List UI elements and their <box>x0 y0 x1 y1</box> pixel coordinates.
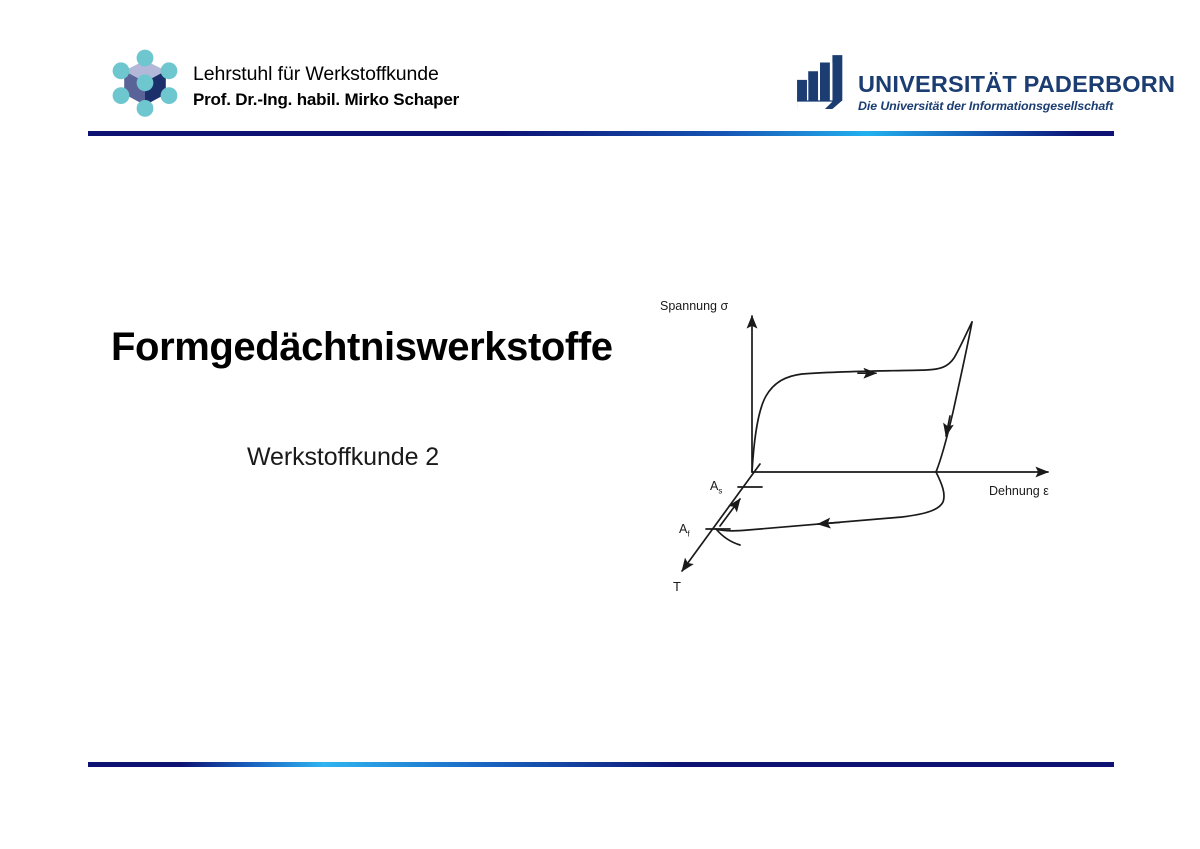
strain-axis-label: Dehnung ε <box>989 484 1049 498</box>
temperature-path-arrow <box>720 499 740 526</box>
university-name: UNIVERSITÄT PADERBORN <box>858 73 1175 97</box>
university-identity-block: UNIVERSITÄT PADERBORN Die Universität de… <box>789 52 1175 115</box>
slide-header: Lehrstuhl für Werkstoffkunde Prof. Dr.-I… <box>0 0 1200 130</box>
university-text-block: UNIVERSITÄT PADERBORN Die Universität de… <box>858 73 1175 115</box>
paderborn-building-mark-icon <box>789 52 851 114</box>
crystal-lattice-logo-icon <box>105 46 185 126</box>
chair-identity-block: Lehrstuhl für Werkstoffkunde Prof. Dr.-I… <box>105 46 459 126</box>
as-subscript: s <box>718 486 722 495</box>
unloading-curve-path <box>936 322 972 472</box>
austenite-start-label: As <box>710 479 722 495</box>
footer-divider-rule <box>88 762 1114 767</box>
chair-holder-name: Prof. Dr.-Ing. habil. Mirko Schaper <box>193 89 459 111</box>
chair-text-block: Lehrstuhl für Werkstoffkunde Prof. Dr.-I… <box>193 62 459 111</box>
university-tagline: Die Universität der Informationsgesellsc… <box>858 100 1175 112</box>
pseudoelasticity-diagram: Spannung σ Dehnung ε T As Af <box>640 288 1090 608</box>
temperature-axis-label: T <box>673 579 681 594</box>
af-subscript: f <box>687 529 690 538</box>
page-subtitle: Werkstoffkunde 2 <box>247 443 439 472</box>
recovery-curve-path <box>716 472 944 531</box>
loading-curve-path <box>752 322 972 472</box>
header-divider-rule <box>88 131 1114 136</box>
recovery-arrow <box>818 522 840 524</box>
temperature-axis-line <box>682 464 760 571</box>
austenite-finish-label: Af <box>679 522 690 538</box>
page-title: Formgedächtniswerkstoffe <box>111 325 613 370</box>
stress-axis-label: Spannung σ <box>660 299 728 313</box>
chair-name: Lehrstuhl für Werkstoffkunde <box>193 62 459 87</box>
